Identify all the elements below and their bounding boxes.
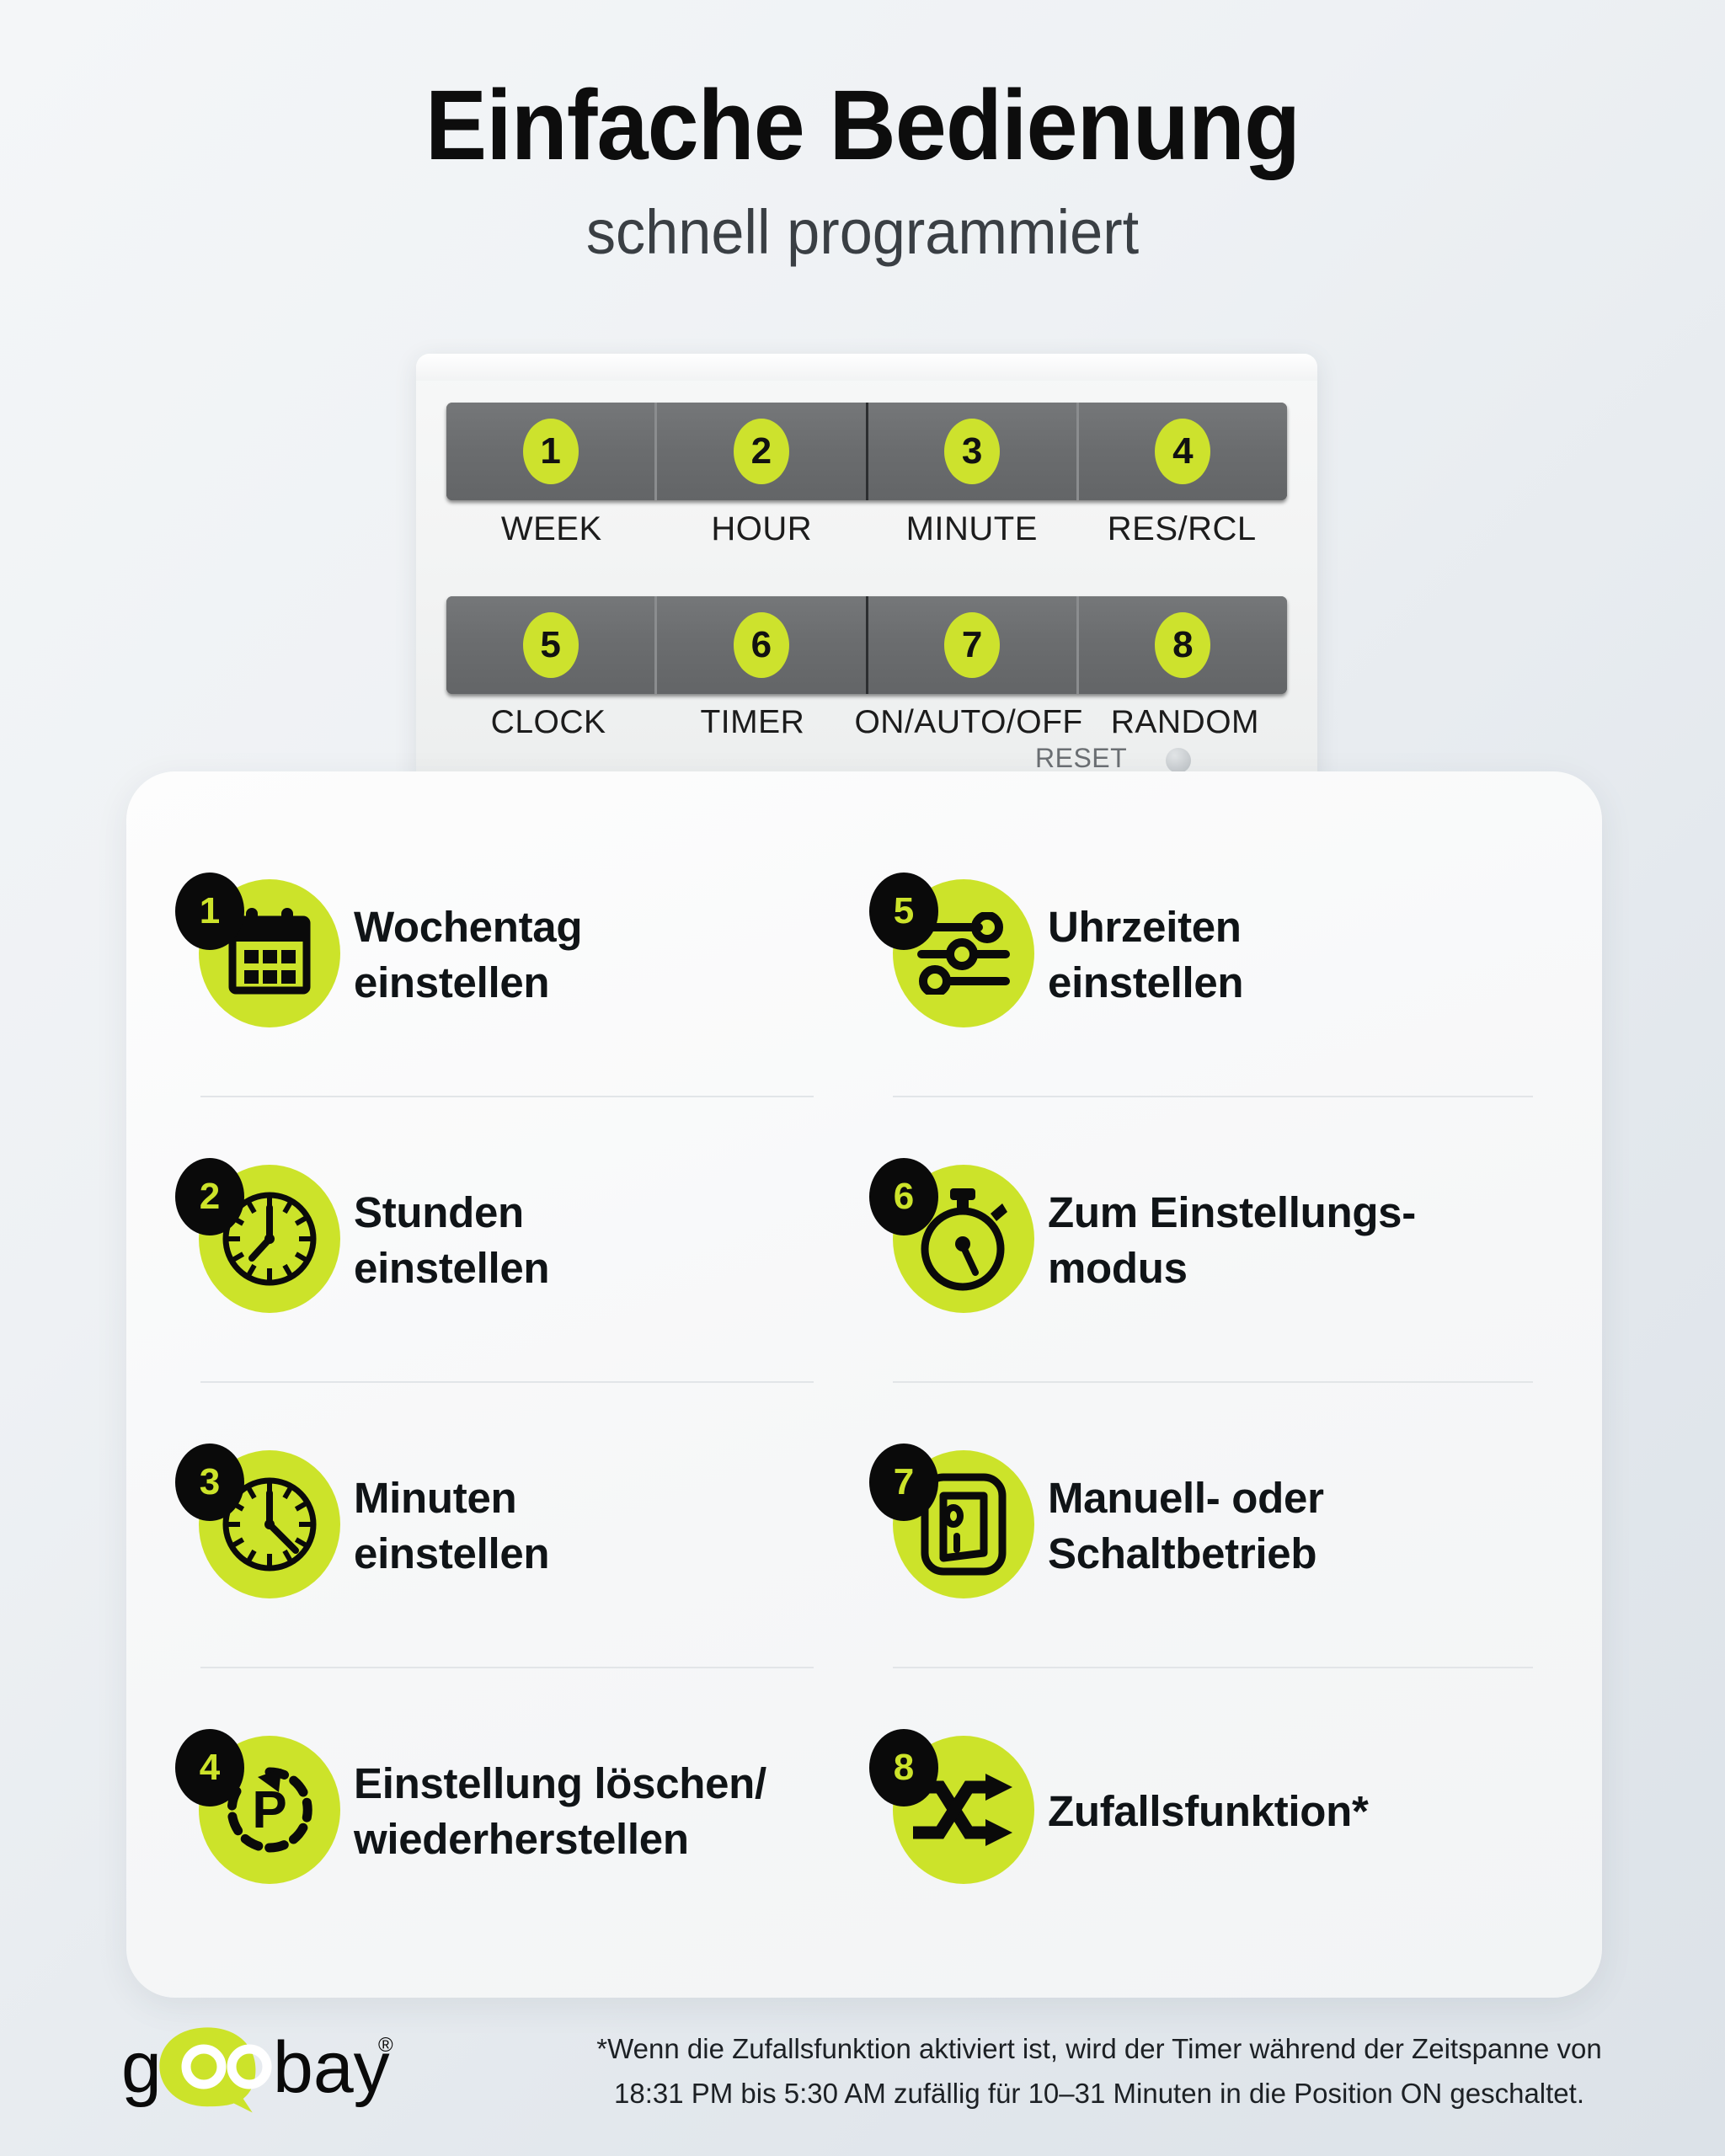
legend-icon-wrap-2: 2 xyxy=(175,1158,340,1323)
legend-item-1: 1 Wochentag einstellen xyxy=(170,812,864,1097)
legend-item-8: 8 Zufallsfunktion* xyxy=(864,1668,1558,1954)
legend-item-2: 2 Stunden einstellen xyxy=(170,1097,864,1383)
device-button-number-1: 1 xyxy=(523,419,579,484)
legend-card: 1 Wochentag einstellen 5 xyxy=(126,771,1602,1998)
header: Einfache Bedienung schnell programmiert xyxy=(0,0,1725,267)
device-label-clock: CLOCK xyxy=(446,704,650,741)
legend-label-7: Manuell- oder Schaltbetrieb xyxy=(1048,1470,1324,1581)
device-label-reset: RESET xyxy=(1035,743,1127,774)
legend-label-1: Wochentag einstellen xyxy=(354,899,582,1010)
registered-mark: ® xyxy=(378,2034,393,2057)
legend-icon-wrap-1: 1 xyxy=(175,873,340,1038)
device-reset-knob[interactable] xyxy=(1166,748,1191,773)
svg-text:P: P xyxy=(252,1781,286,1839)
device-label-onautooff: ON/AUTO/OFF xyxy=(854,704,1082,741)
legend-badge-5: 5 xyxy=(869,873,938,950)
device-button-number-6: 6 xyxy=(734,612,789,678)
device-button-random[interactable]: 8 xyxy=(1079,596,1287,694)
legend-icon-wrap-4: P 4 xyxy=(175,1729,340,1894)
legend-badge-7: 7 xyxy=(869,1444,938,1521)
device-button-resrcl[interactable]: 4 xyxy=(1079,403,1287,500)
device-label-minute: MINUTE xyxy=(867,510,1077,548)
device-button-hour[interactable]: 2 xyxy=(657,403,868,500)
svg-text:bay: bay xyxy=(273,2027,390,2108)
footnote-text: *Wenn die Zufallsfunktion aktiviert ist,… xyxy=(581,2026,1617,2116)
device-button-week[interactable]: 1 xyxy=(446,403,657,500)
legend-grid: 1 Wochentag einstellen 5 xyxy=(126,771,1602,1998)
goobay-logo: g bay ® xyxy=(121,2023,399,2124)
legend-icon-wrap-5: 5 xyxy=(869,873,1034,1038)
device-button-row-top: 1 2 3 4 xyxy=(446,403,1287,500)
legend-label-4: Einstellung löschen/ wiederherstellen xyxy=(354,1756,766,1866)
legend-item-6: 6 Zum Einstellungs- modus xyxy=(864,1097,1558,1383)
device-label-random: RANDOM xyxy=(1083,704,1287,741)
device-label-resrcl: RES/RCL xyxy=(1077,510,1288,548)
legend-item-4: P 4 Einstellung löschen/ wiederherstelle… xyxy=(170,1668,864,1954)
device-label-timer: TIMER xyxy=(650,704,854,741)
device-label-row-bottom: CLOCK TIMER ON/AUTO/OFF RANDOM xyxy=(446,704,1287,741)
legend-item-7: 7 Manuell- oder Schaltbetrieb xyxy=(864,1383,1558,1668)
device-button-number-3: 3 xyxy=(944,419,1000,484)
legend-badge-1: 1 xyxy=(175,873,244,950)
footer: g bay ® *Wenn die Zufallsfunktion aktivi… xyxy=(0,2021,1725,2156)
legend-item-5: 5 Uhrzeiten einstellen xyxy=(864,812,1558,1097)
legend-icon-wrap-6: 6 xyxy=(869,1158,1034,1323)
device-label-hour: HOUR xyxy=(657,510,868,548)
device-button-minute[interactable]: 3 xyxy=(868,403,1079,500)
legend-label-2: Stunden einstellen xyxy=(354,1185,549,1295)
legend-badge-8: 8 xyxy=(869,1729,938,1806)
device-button-timer[interactable]: 6 xyxy=(657,596,868,694)
device-button-row-bottom: 5 6 7 8 xyxy=(446,596,1287,694)
timer-device-photo: 1 2 3 4 WEEK HOUR MINUTE RES/RCL 5 6 7 8… xyxy=(416,354,1317,783)
legend-badge-4: 4 xyxy=(175,1729,244,1806)
device-button-onautooff[interactable]: 7 xyxy=(868,596,1079,694)
legend-icon-wrap-3: 3 xyxy=(175,1444,340,1609)
svg-text:g: g xyxy=(121,2027,162,2108)
page-subtitle: schnell programmiert xyxy=(43,198,1682,266)
legend-item-3: 3 Minuten einstellen xyxy=(170,1383,864,1668)
legend-badge-3: 3 xyxy=(175,1444,244,1521)
legend-badge-6: 6 xyxy=(869,1158,938,1235)
legend-icon-wrap-7: 7 xyxy=(869,1444,1034,1609)
device-button-clock[interactable]: 5 xyxy=(446,596,657,694)
legend-label-6: Zum Einstellungs- modus xyxy=(1048,1185,1416,1295)
legend-label-8: Zufallsfunktion* xyxy=(1048,1784,1369,1838)
device-label-week: WEEK xyxy=(446,510,657,548)
legend-badge-2: 2 xyxy=(175,1158,244,1235)
device-button-number-4: 4 xyxy=(1155,419,1210,484)
legend-icon-wrap-8: 8 xyxy=(869,1729,1034,1894)
device-label-row-top: WEEK HOUR MINUTE RES/RCL xyxy=(446,510,1287,548)
device-button-number-2: 2 xyxy=(734,419,789,484)
device-top-edge xyxy=(416,354,1317,381)
page-title: Einfache Bedienung xyxy=(61,72,1665,179)
device-button-number-7: 7 xyxy=(944,612,1000,678)
device-button-number-8: 8 xyxy=(1155,612,1210,678)
legend-label-5: Uhrzeiten einstellen xyxy=(1048,899,1243,1010)
legend-label-3: Minuten einstellen xyxy=(354,1470,549,1581)
device-button-number-5: 5 xyxy=(523,612,579,678)
